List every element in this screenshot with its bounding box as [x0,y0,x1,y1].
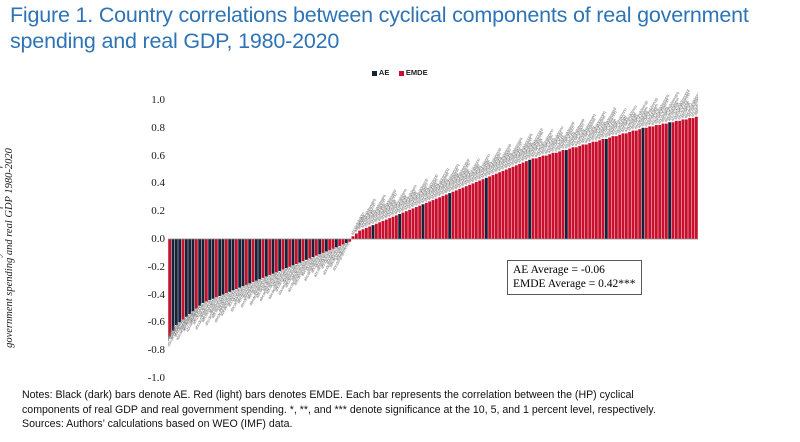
bar-emde [488,176,491,239]
bar-ae [298,239,301,263]
bar-ae [528,160,531,239]
y-tick-label: 0.0 [151,233,165,245]
bar-emde [538,157,541,239]
bar-emde [658,125,661,239]
bar-emde [622,133,625,239]
bar-ae [212,239,215,299]
bar-emde [492,175,495,239]
bar-emde [418,206,421,239]
notes-block: Notes: Black (dark) bars denote AE. Red … [22,388,788,432]
bar-emde [475,182,478,239]
bar-ae [605,139,608,239]
legend-swatch-ae [372,71,377,76]
notes-line-2: components of real GDP and real governme… [22,403,788,418]
bar-ae [178,239,181,322]
bar-emde [168,239,171,336]
bar-emde [582,144,585,239]
bar-emde [362,229,365,239]
y-tick-label: -1.0 [148,372,165,384]
bar-emde [295,239,298,264]
bar-emde [462,188,465,239]
bar-ae [218,239,221,296]
bar-emde [665,124,668,239]
bar-ae [668,122,671,239]
bar-ae [188,239,191,314]
bar-emde [502,171,505,239]
bar-emde [612,136,615,239]
bar-ae [242,239,245,286]
bar-emde [552,153,555,239]
ae-average-line: AE Average = -0.06 [513,263,636,277]
averages-annotation-box: AE Average = -0.06 EMDE Average = 0.42**… [507,260,642,295]
bar-emde [358,231,361,239]
legend-swatch-emde [399,71,404,76]
bar-emde [578,146,581,239]
bar-emde [618,135,621,239]
bar-emde [495,174,498,239]
bar-emde [472,183,475,239]
bar-ae [278,239,281,271]
bar-emde [588,143,591,239]
bar-emde [365,228,368,239]
y-tick-label: -0.8 [148,344,165,356]
bar-ae [185,239,188,317]
bar-emde [592,142,595,239]
bar-emde [632,131,635,239]
bar-emde [215,239,218,297]
bar-emde [638,129,641,239]
bar-emde [518,164,521,239]
bar-emde [688,118,691,239]
page-title: Figure 1. Country correlations between c… [10,2,790,54]
bar-emde [598,140,601,239]
bar-emde [282,239,285,270]
bar-emde [205,239,208,302]
bar-emde [415,207,418,239]
bar-ae [228,239,231,292]
y-tick-label: -0.2 [148,261,165,273]
chart-legend: AE EMDE [0,68,800,77]
bar-emde [625,133,628,239]
legend-item-ae: AE [372,68,389,77]
legend-item-emde: EMDE [399,68,427,77]
bar-ae [422,204,425,239]
bar-emde [575,147,578,239]
bar-ae [198,239,201,306]
bar-emde [508,168,511,239]
emde-average-line: EMDE Average = 0.42*** [513,277,636,291]
bar-emde [245,239,248,285]
bar-ae [175,239,178,325]
chart-plot-area: Correlation between cyclical components … [0,88,800,384]
bar-emde [352,236,355,239]
bar-emde [458,189,461,239]
bar-emde [672,122,675,239]
bar-ae [372,225,375,239]
bar-emde [635,131,638,239]
bar-ae [238,239,241,288]
bar-emde [498,172,501,239]
bar-emde [225,239,228,293]
bar-emde [465,186,468,239]
bar-ae [305,239,308,260]
y-tick-label: 1.0 [151,94,165,106]
bar-emde [522,163,525,239]
bar-emde [182,239,185,320]
bar-emde [682,119,685,239]
bar-emde [468,185,471,239]
bar-ae [312,239,315,257]
bar-ae [202,239,205,303]
bar-emde [432,200,435,239]
bar-emde [678,121,681,239]
bar-emde [655,125,658,239]
bar-emde [235,239,238,289]
bar-emde [572,147,575,239]
bar-emde [585,144,588,239]
bar-emde [445,195,448,239]
bar-ae [172,239,175,331]
bar-emde [535,158,538,239]
bar-emde [412,208,415,239]
bar-ae [565,150,568,239]
bar-emde [695,117,698,239]
bar-emde [308,239,311,258]
y-tick-label: -0.4 [148,289,165,301]
bar-emde [348,239,351,242]
bar-ae [222,239,225,295]
bar-ae [485,178,488,239]
bar-emde [542,156,545,239]
bar-emde [195,239,198,309]
legend-label-ae: AE [379,68,389,77]
bar-emde [408,210,411,239]
bar-series-svg: abcdefghabcdefghijklmnoabcdefghijklabcde… [168,88,698,384]
bar-emde [428,201,431,239]
bar-emde [355,233,358,239]
bar-emde [568,149,571,239]
bar-emde [288,239,291,267]
bar-emde [615,136,618,239]
bar-emde [545,156,548,239]
bar-emde [442,196,445,239]
bar-emde [382,221,385,239]
bar-ae [265,239,268,277]
bar-emde [558,151,561,239]
bar-emde [602,139,605,239]
bar-ae [272,239,275,274]
bar-ae [208,239,211,300]
notes-line-1: Notes: Black (dark) bars denote AE. Red … [22,388,788,403]
bar-emde [692,118,695,239]
bar-ae [285,239,288,268]
notes-line-3: Sources: Authors’ calculations based on … [22,417,788,432]
bar-emde [648,126,651,239]
bar-emde [385,220,388,239]
bar-emde [455,190,458,239]
bar-emde [275,239,278,272]
bar-emde [608,138,611,239]
bar-emde [482,179,485,239]
legend-label-emde: EMDE [406,68,428,77]
bar-emde [532,158,535,239]
bar-ae [192,239,195,311]
bar-ae [258,239,261,279]
bar-emde [452,192,455,239]
bars-canvas: abcdefghabcdefghijklmnoabcdefghijklabcde… [168,88,698,384]
bar-emde [525,161,528,239]
bar-emde [368,226,371,239]
bar-emde [395,215,398,239]
bar-emde [392,217,395,239]
bar-emde [438,197,441,239]
bar-ae [398,214,401,239]
bar-emde [515,165,518,239]
y-tick-label: 0.4 [151,177,165,189]
bar-emde [302,239,305,261]
bar-emde [685,119,688,239]
bar-emde [548,154,551,239]
bar-emde [505,170,508,240]
bar-ae [448,193,451,239]
bar-emde [512,167,515,239]
bar-ae [292,239,295,265]
y-tick-label: 0.8 [151,122,165,134]
y-tick-label: 0.6 [151,150,165,162]
bar-emde [378,222,381,239]
bar-ae [642,128,645,239]
bar-ae [232,239,235,290]
bar-emde [435,199,438,239]
bar-emde [268,239,271,275]
bar-emde [555,153,558,239]
bar-emde [478,181,481,239]
bar-emde [628,132,631,239]
bar-emde [595,142,598,239]
bar-emde [652,126,655,239]
bar-emde [388,218,391,239]
bar-ae [248,239,251,283]
y-tick-label: 0.2 [151,205,165,217]
bar-emde [645,128,648,239]
bar-emde [675,121,678,239]
y-tick-label: -0.6 [148,316,165,328]
bar-emde [252,239,255,282]
bar-emde [402,213,405,239]
bar-emde [375,224,378,239]
bar-ae [255,239,258,281]
bar-emde [262,239,265,278]
bar-emde [662,124,665,239]
y-axis-tick-labels: 1.00.80.60.40.20.0-0.2-0.4-0.6-0.8-1.0 [133,88,165,384]
y-axis-title: Correlation between cyclical components … [0,138,16,358]
bar-emde [405,211,408,239]
bar-emde [425,203,428,239]
bar-emde [562,150,565,239]
